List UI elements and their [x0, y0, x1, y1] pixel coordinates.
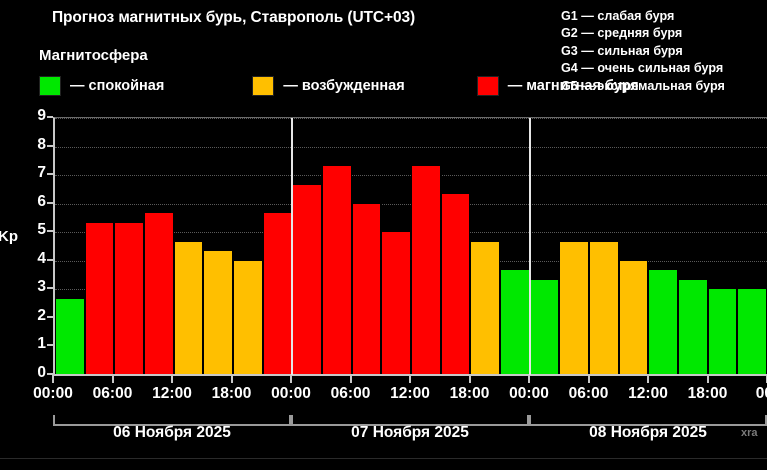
plot-area [53, 117, 767, 374]
bar-10[interactable] [352, 203, 382, 374]
bar-5[interactable] [203, 250, 233, 374]
x-tick-label-7: 18:00 [450, 385, 490, 403]
x-tick-label-11: 18:00 [688, 385, 728, 403]
y-tick-label-7: 7 [20, 164, 46, 182]
x-tick-label-6: 12:00 [390, 385, 430, 403]
bottom-divider [0, 458, 767, 459]
magnetosphere-label: Магнитосфера [39, 47, 148, 64]
bar-11[interactable] [381, 231, 411, 374]
x-tick-label-3: 18:00 [212, 385, 252, 403]
bar-16[interactable] [530, 279, 560, 374]
x-tick-mark-10 [647, 374, 649, 383]
x-tick-mark-3 [231, 374, 233, 383]
storm-scale-legend: G1 — слабая буря G2 — средняя буря G3 — … [561, 8, 725, 95]
bar-22[interactable] [708, 288, 738, 374]
legend-swatch-excited [252, 76, 274, 96]
x-tick-label-5: 06:00 [331, 385, 371, 403]
x-tick-mark-1 [112, 374, 114, 383]
bar-series [55, 118, 767, 374]
day-label-2: 08 Ноября 2025 [589, 424, 707, 442]
legend-label-calm: — спокойная [70, 78, 164, 94]
y-tick-label-6: 6 [20, 193, 46, 211]
magnetic-storm-forecast-chart: Прогноз магнитных бурь, Ставрополь (UTC+… [0, 0, 767, 470]
y-tick-label-1: 1 [20, 335, 46, 353]
x-tick-label-4: 00:00 [271, 385, 311, 403]
x-tick-label-8: 00:00 [509, 385, 549, 403]
day-label-1: 07 Ноября 2025 [351, 424, 469, 442]
storm-scale-g4: G4 — очень сильная буря [561, 60, 725, 77]
x-tick-mark-6 [409, 374, 411, 383]
bar-17[interactable] [559, 241, 589, 374]
legend-label-excited: — возбужденная [283, 78, 404, 94]
bar-12[interactable] [411, 165, 441, 374]
y-axis-title: Kp [0, 228, 18, 245]
bar-20[interactable] [648, 269, 678, 374]
x-tick-label-0: 00:00 [33, 385, 73, 403]
x-tick-mark-5 [350, 374, 352, 383]
x-tick-mark-9 [588, 374, 590, 383]
y-tick-label-9: 9 [20, 107, 46, 125]
bar-18[interactable] [589, 241, 619, 374]
legend-item-excited: — возбужденная [252, 76, 404, 96]
x-tick-label-10: 12:00 [628, 385, 668, 403]
x-tick-mark-8 [528, 374, 530, 383]
legend-item-calm: — спокойная [39, 76, 164, 96]
storm-scale-g3: G3 — сильная буря [561, 43, 725, 60]
y-tick-label-3: 3 [20, 278, 46, 296]
y-tick-label-2: 2 [20, 307, 46, 325]
legend: — спокойная — возбужденная — магнитная б… [39, 76, 639, 96]
bar-13[interactable] [441, 193, 471, 374]
storm-scale-g1: G1 — слабая буря [561, 8, 725, 25]
page-title: Прогноз магнитных бурь, Ставрополь (UTC+… [52, 9, 415, 27]
y-tick-label-0: 0 [20, 364, 46, 382]
x-tick-mark-2 [171, 374, 173, 383]
day-separator-2 [529, 118, 531, 375]
bar-1[interactable] [85, 222, 115, 374]
day-separator-1 [291, 118, 293, 375]
x-tick-mark-0 [52, 374, 54, 383]
storm-scale-g5: G5 — экстремальная буря [561, 78, 725, 95]
bar-9[interactable] [322, 165, 352, 374]
bar-21[interactable] [678, 279, 708, 374]
bar-14[interactable] [470, 241, 500, 374]
x-tick-label-12: 00: [756, 385, 767, 403]
bar-6[interactable] [233, 260, 263, 374]
watermark: xra [741, 427, 767, 439]
legend-swatch-storm [477, 76, 499, 96]
x-tick-mark-7 [469, 374, 471, 383]
bar-0[interactable] [55, 298, 85, 374]
x-tick-label-1: 06:00 [93, 385, 133, 403]
bar-2[interactable] [114, 222, 144, 374]
storm-scale-g2: G2 — средняя буря [561, 25, 725, 42]
y-tick-label-5: 5 [20, 221, 46, 239]
bar-19[interactable] [619, 260, 649, 374]
day-label-0: 06 Ноября 2025 [113, 424, 231, 442]
bar-15[interactable] [500, 269, 530, 374]
x-tick-mark-11 [707, 374, 709, 383]
bar-3[interactable] [144, 212, 174, 374]
x-tick-label-2: 12:00 [152, 385, 192, 403]
legend-swatch-calm [39, 76, 61, 96]
bar-23[interactable] [737, 288, 767, 374]
y-tick-label-8: 8 [20, 136, 46, 154]
bar-7[interactable] [263, 212, 293, 374]
bar-8[interactable] [292, 184, 322, 374]
y-tick-label-4: 4 [20, 250, 46, 268]
bar-4[interactable] [174, 241, 204, 374]
x-tick-label-9: 06:00 [569, 385, 609, 403]
x-tick-mark-4 [290, 374, 292, 383]
